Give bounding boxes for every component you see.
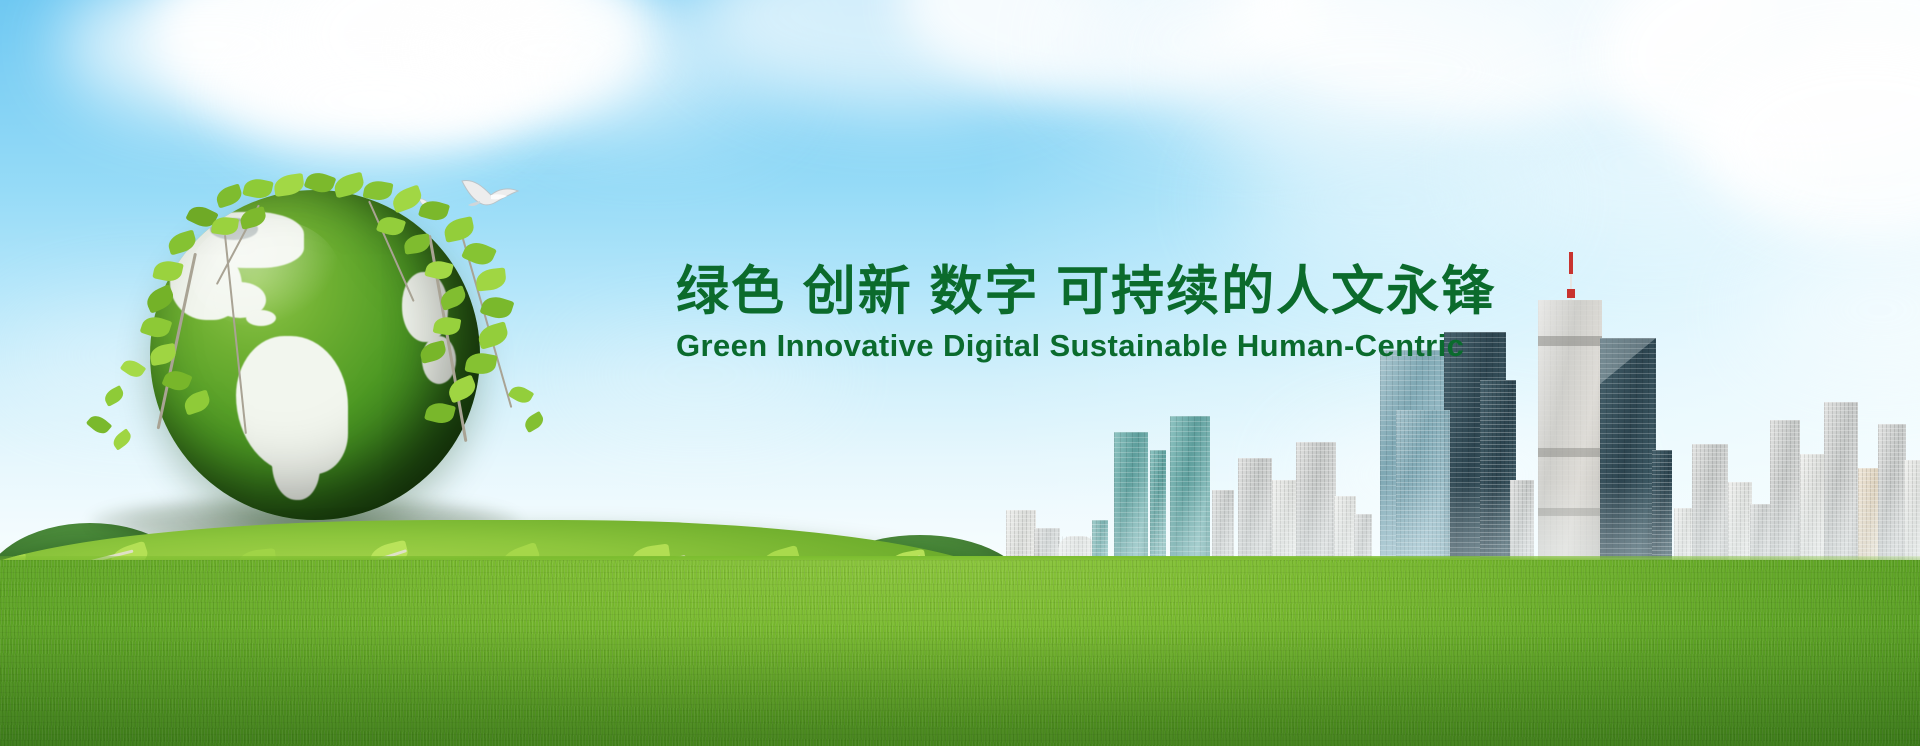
globe-sphere [150,190,480,520]
subheadline-english: Green Innovative Digital Sustainable Hum… [676,326,1576,366]
headline-chinese: 绿色 创新 数字 可持续的人文永锋 [676,263,1576,320]
eco-banner: 绿色 创新 数字 可持续的人文永锋 Green Innovative Digit… [0,0,1920,746]
earth-globe [120,165,580,565]
grass-field [0,560,1920,746]
banner-text-block: 绿色 创新 数字 可持续的人文永锋 Green Innovative Digit… [676,263,1576,367]
